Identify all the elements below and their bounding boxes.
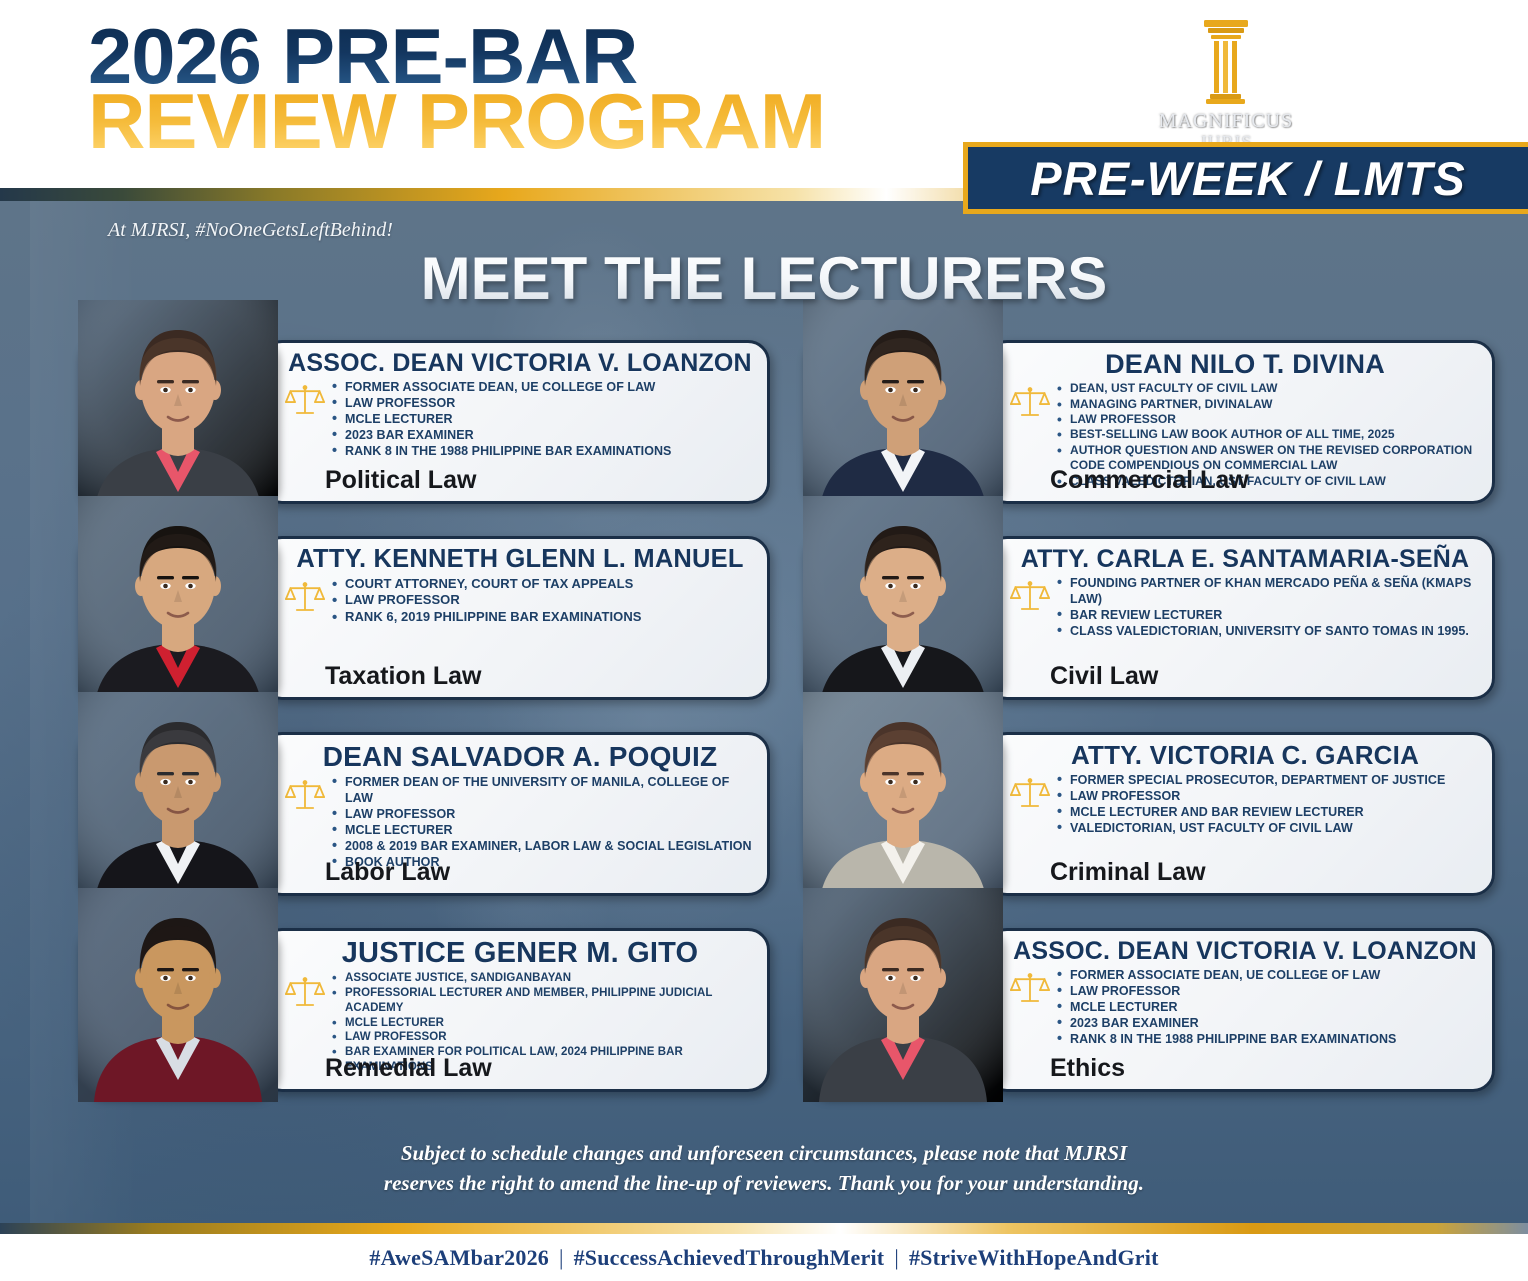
lecturer-photo-frame [803, 726, 1003, 902]
disclaimer: Subject to schedule changes and unforese… [0, 1139, 1528, 1199]
subject-label: Taxation Law [263, 662, 767, 691]
credential-item: LAW PROFESSOR [1057, 788, 1445, 804]
credential-item: FORMER SPECIAL PROSECUTOR, DEPARTMENT OF… [1057, 772, 1445, 788]
credentials-list: FOUNDING PARTNER OF KHAN MERCADO PEÑA & … [1057, 575, 1480, 639]
lecturer-name: DEAN SALVADOR A. POQUIZ [285, 742, 755, 771]
credential-item: FORMER ASSOCIATE DEAN, UE COLLEGE OF LAW [332, 379, 671, 395]
scales-of-justice-icon [285, 580, 325, 616]
tagline: At MJRSI, #NoOneGetsLeftBehind! [108, 219, 393, 242]
carla-santamaria-sena-photo [803, 496, 1003, 710]
ribbon-label: PRE-WEEK / LMTS [1030, 151, 1465, 206]
pillar-icon [1200, 18, 1252, 104]
credential-item: LAW PROFESSOR [332, 592, 641, 609]
nilo-divina-photo [803, 300, 1003, 514]
credential-item: RANK 6, 2019 PHILIPPINE BAR EXAMINATIONS [332, 609, 641, 626]
credential-item: MANAGING PARTNER, DIVINALAW [1057, 397, 1480, 412]
magnificus-juris-logo: MAGNIFICUS JURIS [1146, 18, 1306, 153]
victoria-loanzon-photo [803, 888, 1003, 1102]
credentials-block: FORMER ASSOCIATE DEAN, UE COLLEGE OF LAW… [285, 379, 755, 459]
credential-item: MCLE LECTURER [1057, 999, 1396, 1015]
credential-item: BAR REVIEW LECTURER [1057, 607, 1480, 623]
lecturer-photo-frame [78, 334, 278, 510]
gener-gito-photo [78, 888, 278, 1102]
credential-item: MCLE LECTURER [332, 411, 671, 427]
lecturer-name: ATTY. KENNETH GLENN L. MANUEL [285, 546, 755, 573]
scales-of-justice-icon [285, 975, 325, 1011]
credentials-list: COURT ATTORNEY, COURT OF TAX APPEALSLAW … [332, 576, 641, 626]
disclaimer-line-2: reserves the right to amend the line-up … [0, 1169, 1528, 1199]
subject-label: Remedial Law [263, 1054, 767, 1083]
credential-item: DEAN, UST FACULTY OF CIVIL LAW [1057, 381, 1480, 396]
scales-of-justice-icon [285, 383, 325, 419]
page-title: MEET THE LECTURERS [0, 244, 1528, 313]
credentials-list: FORMER ASSOCIATE DEAN, UE COLLEGE OF LAW… [332, 379, 671, 459]
disclaimer-line-1: Subject to schedule changes and unforese… [0, 1139, 1528, 1169]
credential-item: BEST-SELLING LAW BOOK AUTHOR OF ALL TIME… [1057, 427, 1480, 442]
victoria-loanzon-photo [78, 300, 278, 514]
lecturer-row: ATTY. KENNETH GLENN L. MANUEL COURT ATTO… [0, 522, 1528, 718]
scales-of-justice-icon [1010, 971, 1050, 1007]
scales-of-justice-icon [1010, 776, 1050, 812]
lecturer-card[interactable]: ATTY. KENNETH GLENN L. MANUEL COURT ATTO… [260, 536, 770, 700]
credential-item: LAW PROFESSOR [1057, 412, 1480, 427]
credentials-list: FORMER SPECIAL PROSECUTOR, DEPARTMENT OF… [1057, 772, 1445, 836]
lecturers-grid: ASSOC. DEAN VICTORIA V. LOANZON FORMER A… [0, 326, 1528, 1110]
lecturer-cell: DEAN NILO T. DIVINA DEAN, UST FACULTY OF… [795, 326, 1495, 522]
credential-item: VALEDICTORIAN, UST FACULTY OF CIVIL LAW [1057, 820, 1445, 836]
credential-item: RANK 8 IN THE 1988 PHILIPPINE BAR EXAMIN… [332, 443, 671, 459]
lecturer-row: ASSOC. DEAN VICTORIA V. LOANZON FORMER A… [0, 326, 1528, 522]
lecturer-name: JUSTICE GENER M. GITO [285, 938, 755, 968]
lecturer-photo [78, 334, 278, 510]
hashtag-list: #AweSAMbar2026|#SuccessAchievedThroughMe… [369, 1245, 1158, 1271]
credentials-block: FOUNDING PARTNER OF KHAN MERCADO PEÑA & … [1010, 575, 1480, 639]
credential-item: 2008 & 2019 BAR EXAMINER, LABOR LAW & SO… [332, 838, 755, 854]
poster-footer: #AweSAMbar2026|#SuccessAchievedThroughMe… [0, 1234, 1528, 1281]
lecturer-cell: ATTY. KENNETH GLENN L. MANUEL COURT ATTO… [70, 522, 770, 718]
hashtag-separator: | [884, 1245, 909, 1270]
lecturer-row: JUSTICE GENER M. GITO ASSOCIATE JUSTICE,… [0, 914, 1528, 1110]
lecturer-card[interactable]: DEAN SALVADOR A. POQUIZ FORMER DEAN OF T… [260, 732, 770, 896]
lecturer-photo [803, 726, 1003, 902]
victoria-garcia-photo [803, 692, 1003, 906]
credential-item: FORMER ASSOCIATE DEAN, UE COLLEGE OF LAW [1057, 967, 1396, 983]
credentials-list: FORMER DEAN OF THE UNIVERSITY OF MANILA,… [332, 774, 755, 870]
lecturer-cell: ASSOC. DEAN VICTORIA V. LOANZON FORMER A… [70, 326, 770, 522]
lecturer-photo-frame [803, 334, 1003, 510]
subject-label: Commercial Law [988, 466, 1492, 495]
logo-name: MAGNIFICUS [1146, 111, 1306, 132]
kenneth-manuel-photo [78, 496, 278, 710]
credential-item: LAW PROFESSOR [332, 395, 671, 411]
hashtag: #AweSAMbar2026 [369, 1245, 549, 1270]
hashtag: #StriveWithHopeAndGrit [909, 1245, 1159, 1270]
lecturer-name: ATTY. CARLA E. SANTAMARIA-SEÑA [1010, 546, 1480, 572]
credentials-block: FORMER DEAN OF THE UNIVERSITY OF MANILA,… [285, 774, 755, 870]
lecturer-photo [78, 922, 278, 1098]
lecturer-cell: ATTY. VICTORIA C. GARCIA FORMER SPECIAL … [795, 718, 1495, 914]
lecturer-photo [78, 530, 278, 706]
lecturer-name: ATTY. VICTORIA C. GARCIA [1010, 742, 1480, 769]
lecturer-photo [803, 922, 1003, 1098]
credential-item: LAW PROFESSOR [1057, 983, 1396, 999]
lecturer-photo [78, 726, 278, 902]
credential-item: FOUNDING PARTNER OF KHAN MERCADO PEÑA & … [1057, 575, 1480, 607]
credential-item: ASSOCIATE JUSTICE, SANDIGANBAYAN [332, 971, 755, 986]
hashtag-separator: | [549, 1245, 574, 1270]
poster-title-block: 2026 PRE-BAR REVIEW PROGRAM [88, 18, 811, 160]
subject-label: Criminal Law [988, 858, 1492, 887]
lecturer-card[interactable]: ATTY. CARLA E. SANTAMARIA-SEÑA FOUNDING … [985, 536, 1495, 700]
lecturer-photo [803, 530, 1003, 706]
lecturer-row: DEAN SALVADOR A. POQUIZ FORMER DEAN OF T… [0, 718, 1528, 914]
lecturer-photo-frame [78, 530, 278, 706]
lecturer-card[interactable]: ASSOC. DEAN VICTORIA V. LOANZON FORMER A… [985, 928, 1495, 1092]
scales-of-justice-icon [1010, 772, 1050, 817]
lecturer-photo [803, 334, 1003, 510]
credentials-list: FORMER ASSOCIATE DEAN, UE COLLEGE OF LAW… [1057, 967, 1396, 1047]
scales-of-justice-icon [285, 971, 325, 1016]
lecturer-name: ASSOC. DEAN VICTORIA V. LOANZON [285, 350, 755, 376]
lecturer-photo-frame [78, 726, 278, 902]
pre-week-lmts-ribbon: PRE-WEEK / LMTS [963, 142, 1528, 214]
subject-label: Civil Law [988, 662, 1492, 691]
scales-of-justice-icon [1010, 381, 1050, 426]
credential-item: LAW PROFESSOR [332, 1030, 755, 1045]
lecturer-card[interactable]: DEAN NILO T. DIVINA DEAN, UST FACULTY OF… [985, 340, 1495, 504]
credential-item: RANK 8 IN THE 1988 PHILIPPINE BAR EXAMIN… [1057, 1031, 1396, 1047]
subject-label: Political Law [263, 466, 767, 495]
scales-of-justice-icon [285, 774, 325, 819]
credential-item: MCLE LECTURER AND BAR REVIEW LECTURER [1057, 804, 1445, 820]
lecturer-card[interactable]: ATTY. VICTORIA C. GARCIA FORMER SPECIAL … [985, 732, 1495, 896]
lecturer-name: ASSOC. DEAN VICTORIA V. LOANZON [1010, 938, 1480, 964]
lecturer-cell: ASSOC. DEAN VICTORIA V. LOANZON FORMER A… [795, 914, 1495, 1110]
lecturer-name: DEAN NILO T. DIVINA [1010, 350, 1480, 378]
salvador-poquiz-photo [78, 692, 278, 906]
credential-item: MCLE LECTURER [332, 822, 755, 838]
credential-item: LAW PROFESSOR [332, 806, 755, 822]
credential-item: FORMER DEAN OF THE UNIVERSITY OF MANILA,… [332, 774, 755, 806]
lecturer-photo-frame [78, 922, 278, 1098]
credentials-block: FORMER SPECIAL PROSECUTOR, DEPARTMENT OF… [1010, 772, 1480, 836]
subject-label: Labor Law [263, 858, 767, 887]
scales-of-justice-icon [1010, 385, 1050, 421]
lecturer-cell: DEAN SALVADOR A. POQUIZ FORMER DEAN OF T… [70, 718, 770, 914]
lecturer-cell: JUSTICE GENER M. GITO ASSOCIATE JUSTICE,… [70, 914, 770, 1110]
lecturer-card[interactable]: ASSOC. DEAN VICTORIA V. LOANZON FORMER A… [260, 340, 770, 504]
credential-item: MCLE LECTURER [332, 1016, 755, 1031]
lecturer-photo-frame [803, 530, 1003, 706]
credential-item: PROFESSORIAL LECTURER AND MEMBER, PHILIP… [332, 986, 755, 1015]
scales-of-justice-icon [285, 576, 325, 621]
credential-item: 2023 BAR EXAMINER [332, 427, 671, 443]
scales-of-justice-icon [285, 379, 325, 424]
credentials-block: FORMER ASSOCIATE DEAN, UE COLLEGE OF LAW… [1010, 967, 1480, 1047]
scales-of-justice-icon [1010, 575, 1050, 620]
credential-item: CLASS VALEDICTORIAN, UNIVERSITY OF SANTO… [1057, 623, 1480, 639]
credential-item: 2023 BAR EXAMINER [1057, 1015, 1396, 1031]
lecturer-photo-frame [803, 922, 1003, 1098]
footer-gold-divider [0, 1223, 1528, 1234]
credentials-block: COURT ATTORNEY, COURT OF TAX APPEALSLAW … [285, 576, 755, 626]
scales-of-justice-icon [1010, 967, 1050, 1012]
hashtag: #SuccessAchievedThroughMerit [574, 1245, 885, 1270]
credential-item: COURT ATTORNEY, COURT OF TAX APPEALS [332, 576, 641, 593]
scales-of-justice-icon [1010, 579, 1050, 615]
lecturer-card[interactable]: JUSTICE GENER M. GITO ASSOCIATE JUSTICE,… [260, 928, 770, 1092]
subject-label: Ethics [988, 1054, 1492, 1083]
scales-of-justice-icon [285, 778, 325, 814]
title-line-2: REVIEW PROGRAM [88, 82, 825, 160]
lecturer-cell: ATTY. CARLA E. SANTAMARIA-SEÑA FOUNDING … [795, 522, 1495, 718]
